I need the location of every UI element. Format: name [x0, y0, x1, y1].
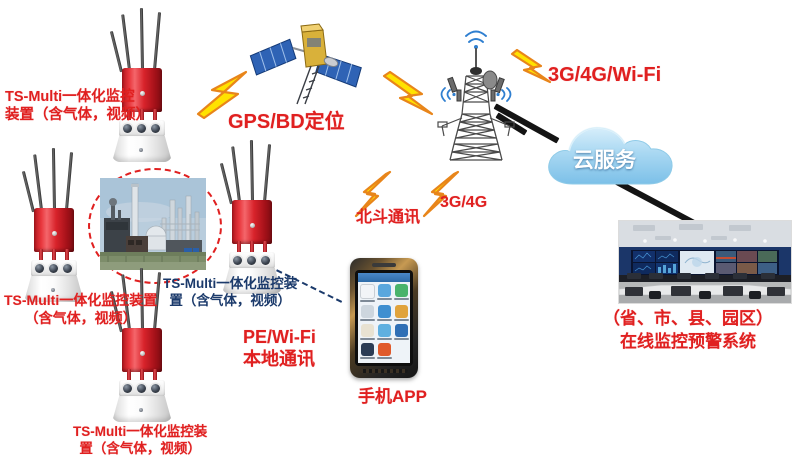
antenna	[33, 154, 43, 210]
bolt-satellite-tower	[378, 66, 440, 118]
tablet-app[interactable]	[360, 343, 375, 359]
sensor-body	[122, 328, 162, 372]
antenna	[140, 8, 144, 70]
tablet-grip	[360, 369, 408, 373]
cloud-service: 云服务	[541, 118, 681, 198]
antenna	[52, 148, 56, 210]
tablet-app-grid[interactable]	[360, 284, 408, 359]
sensor-top	[108, 8, 188, 158]
sensor-lens	[137, 384, 146, 393]
antenna	[110, 31, 123, 72]
antenna	[65, 152, 73, 210]
label-3g4g-wifi: 3G/4G/Wi-Fi	[548, 63, 661, 88]
sensor-lens	[151, 384, 160, 393]
tablet-app[interactable]	[377, 284, 392, 302]
cell-tower	[428, 18, 524, 163]
sensor-lens	[261, 256, 270, 265]
sensor-middle	[218, 140, 298, 290]
sensor-lens	[63, 264, 72, 273]
control-room	[618, 220, 792, 304]
sensor-body	[232, 200, 272, 244]
tablet-app[interactable]	[394, 305, 409, 321]
antenna	[121, 14, 131, 70]
tablet-app[interactable]	[360, 305, 375, 321]
tablet-statusbar	[358, 273, 410, 282]
sensor-indicator	[139, 408, 143, 412]
sensor-indicator	[139, 148, 143, 152]
tablet-app[interactable]	[394, 324, 409, 340]
sensor-lens	[49, 264, 58, 273]
label-sensor-left: TS-Multi一体化监控装置 （含气体，视频）	[4, 292, 157, 327]
label-phone-app: 手机APP	[358, 386, 427, 407]
industrial-plant-photo	[100, 178, 206, 270]
antenna	[153, 12, 161, 70]
sensor-lens	[123, 384, 132, 393]
sensor-lens	[35, 264, 44, 273]
sensor-lens	[123, 124, 132, 133]
label-3g4g: 3G/4G	[440, 193, 487, 213]
tablet-app[interactable]	[377, 324, 392, 340]
label-sensor-top: TS-Multi一体化监控 装置（含气体，视频）	[5, 88, 150, 124]
tablet-speaker	[372, 263, 396, 267]
sensor-left	[20, 148, 100, 298]
tablet-screen[interactable]	[358, 273, 410, 363]
sensor-lens	[247, 256, 256, 265]
sensor-lens	[137, 124, 146, 133]
tablet-app[interactable]	[394, 284, 409, 302]
diagram-canvas: 云服务	[0, 0, 797, 464]
tablet-app[interactable]	[377, 305, 392, 321]
antenna	[250, 140, 254, 202]
sensor-body	[34, 208, 74, 252]
label-beidou: 北斗通讯	[356, 208, 420, 228]
rugged-tablet[interactable]	[350, 258, 418, 378]
label-sensor-middle: TS-Multi一体化监控装 置（含气体，视频）	[163, 276, 297, 310]
label-gps-bd: GPS/BD定位	[228, 110, 345, 135]
satellite	[245, 8, 370, 108]
tablet-app[interactable]	[360, 284, 375, 302]
antenna	[220, 163, 233, 204]
label-pe-wifi: PE/Wi-Fi 本地通讯	[243, 327, 316, 370]
antenna	[263, 144, 271, 202]
label-sensor-bottom: TS-Multi一体化监控装 置（含气体，视频）	[73, 424, 207, 458]
antenna	[22, 171, 35, 212]
antenna	[231, 146, 241, 202]
cloud-label: 云服务	[573, 144, 636, 174]
tablet-app[interactable]	[360, 324, 375, 340]
sensor-lens	[233, 256, 242, 265]
sensor-lens	[151, 124, 160, 133]
tablet-app[interactable]	[377, 343, 392, 359]
label-control-center: （省、市、县、园区） 在线监控预警系统	[603, 308, 773, 354]
